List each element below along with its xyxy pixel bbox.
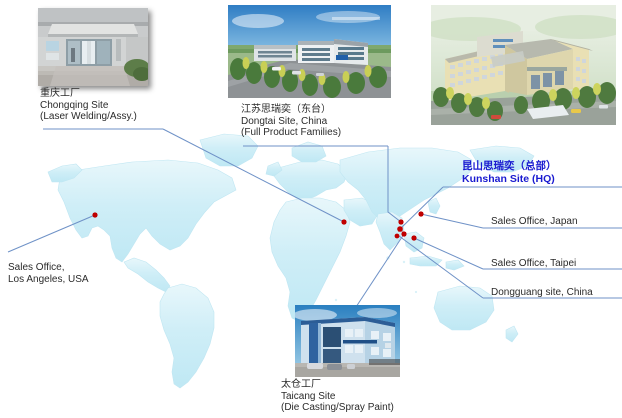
taicang-photo [295, 305, 400, 377]
marker-kunshan [397, 226, 403, 232]
label-chongqing-en: Chongqing Site [40, 100, 137, 112]
label-kunshan-cn: 昆山思瑞奕（总部） [462, 160, 557, 173]
label-la-line1: Sales Office, [8, 262, 89, 274]
dongtai-photo [228, 5, 391, 98]
marker-taipei [411, 235, 416, 240]
label-kunshan-en: Kunshan Site (HQ) [462, 173, 557, 186]
label-dongtai: 江苏思瑞奕（东台） Dongtai Site, China (Full Prod… [241, 104, 341, 139]
marker-los-angeles [92, 212, 97, 217]
marker-dongguang [395, 234, 400, 239]
label-chongqing-cn: 重庆工厂 [40, 88, 137, 100]
label-dongtai-detail: (Full Product Families) [241, 127, 341, 139]
marker-japan [418, 211, 423, 216]
label-sales-taipei: Sales Office, Taipei [491, 258, 576, 269]
label-chongqing: 重庆工厂 Chongqing Site (Laser Welding/Assy.… [40, 88, 137, 123]
label-chongqing-detail: (Laser Welding/Assy.) [40, 111, 137, 123]
diagram-canvas: 重庆工厂 Chongqing Site (Laser Welding/Assy.… [0, 0, 622, 418]
label-dongtai-en: Dongtai Site, China [241, 116, 341, 128]
chongqing-photo [38, 8, 148, 86]
label-kunshan-hq: 昆山思瑞奕（总部） Kunshan Site (HQ) [462, 160, 557, 185]
marker-taicang [401, 231, 406, 236]
label-taicang-cn: 太仓工厂 [281, 379, 394, 391]
label-la-line2: Los Angeles, USA [8, 274, 89, 286]
label-taicang: 太仓工厂 Taicang Site (Die Casting/Spray Pai… [281, 379, 394, 414]
label-taicang-en: Taicang Site [281, 391, 394, 403]
kunshan-photo [431, 5, 616, 125]
marker-dongtai [398, 219, 403, 224]
label-sales-japan: Sales Office, Japan [491, 216, 578, 227]
label-dongguang-site: Dongguang site, China [491, 287, 593, 298]
label-sales-los-angeles: Sales Office, Los Angeles, USA [8, 262, 89, 285]
label-dongtai-cn: 江苏思瑞奕（东台） [241, 104, 341, 116]
label-taicang-detail: (Die Casting/Spray Paint) [281, 402, 394, 414]
marker-chongqing [341, 219, 346, 224]
